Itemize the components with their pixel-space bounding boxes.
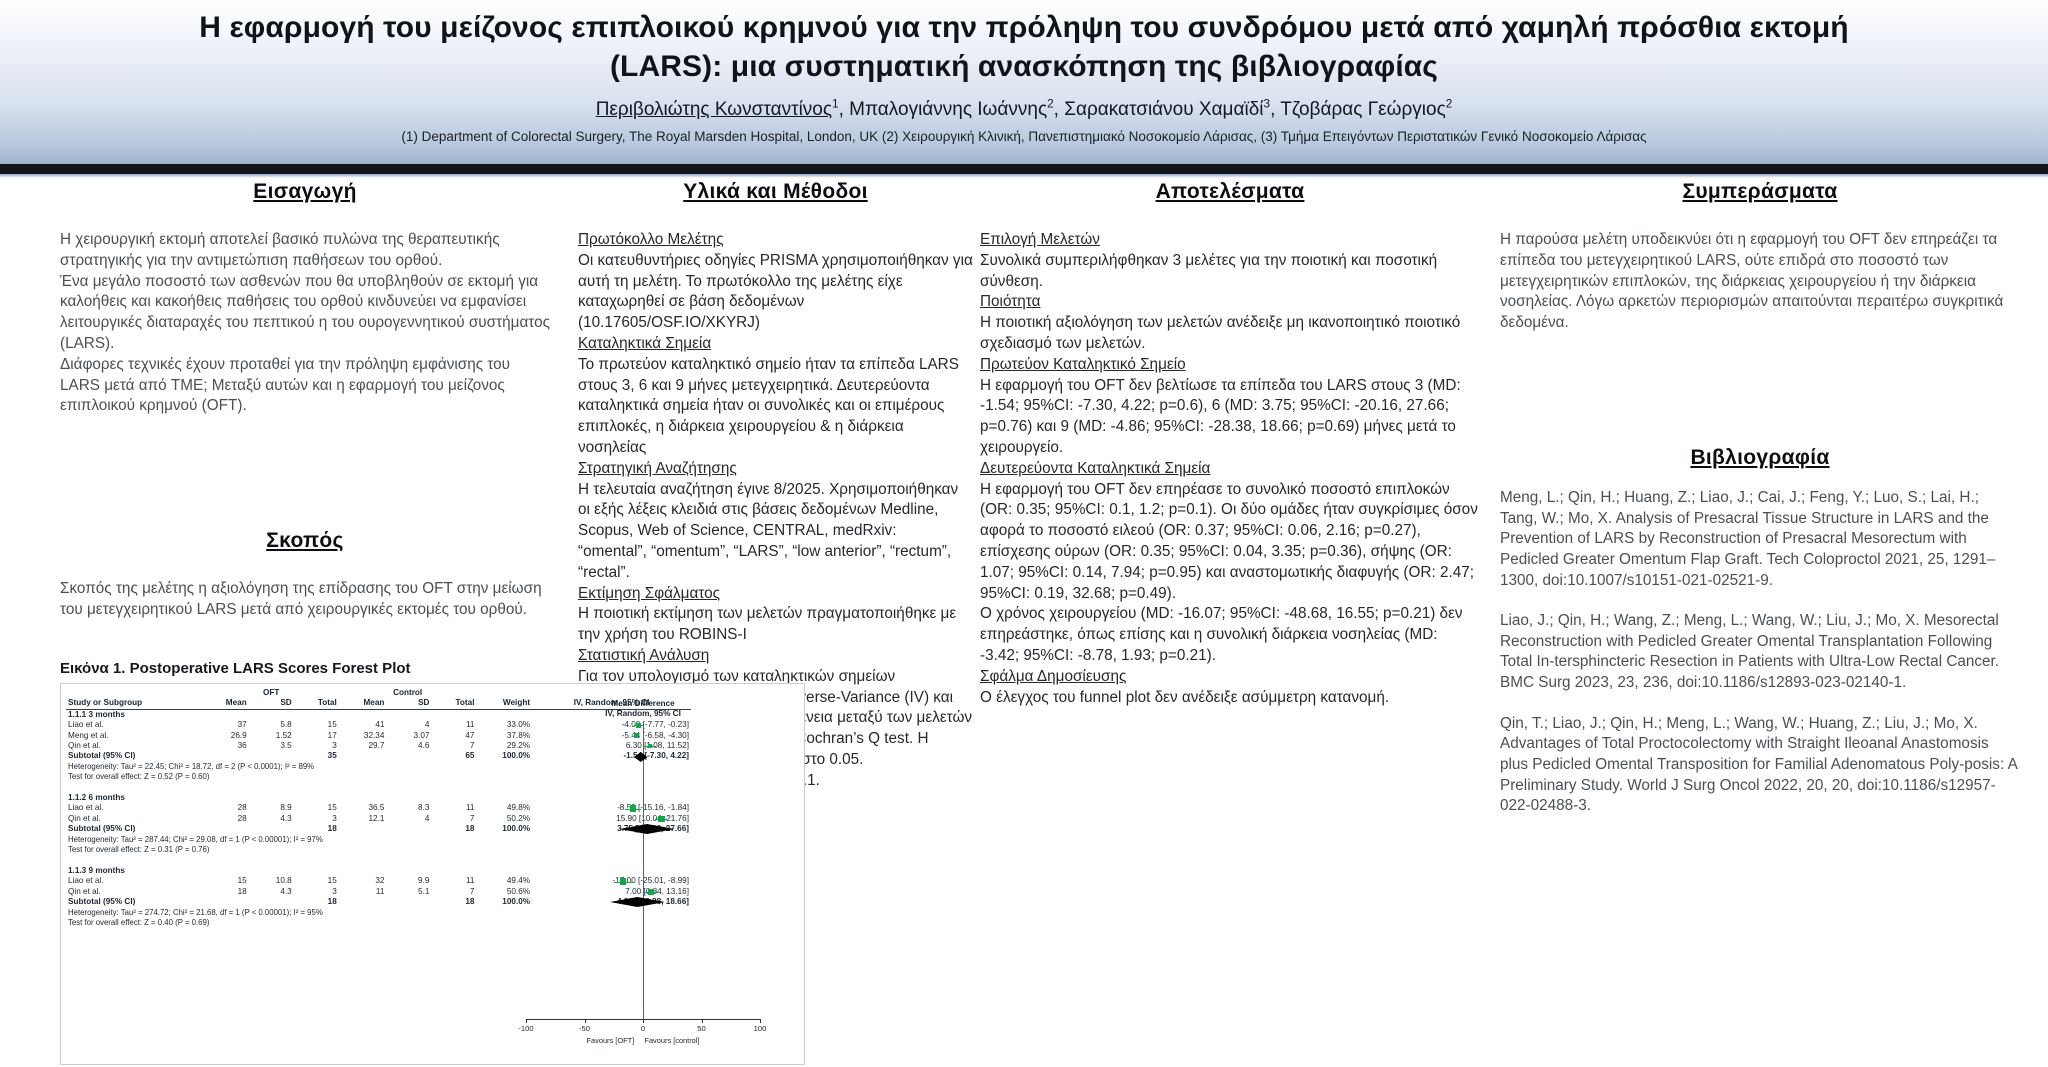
column-header: SD [386,698,431,709]
column-header: Mean [204,698,249,709]
spacer-cell [532,688,691,698]
forest-plot-favours-labels: Favours [OFT] Favours [control] [498,1036,788,1045]
cell-blank [204,824,249,834]
column-header: Total [294,698,339,709]
cell-mean-control: 11 [339,887,387,897]
favours-left-label: Favours [OFT] [587,1036,635,1045]
aim-text: Σκοπός της μελέτης η αξιολόγηση της επίδ… [60,579,550,621]
forest-plot-effect-marker [630,805,637,812]
results-subheading-secondary-endpoints: Δευτερεύοντα Καταληκτικά Σημεία [980,459,1480,480]
forest-plot-effect-marker [658,816,665,823]
cell-study: Liao et al. [66,803,204,813]
forest-plot-header: Mean Difference IV, Random, 95% CI [498,699,788,720]
forest-plot-image: OFTControlStudy or SubgroupMeanSDTotalMe… [60,683,805,1065]
author-1: Περιβολιώτης Κωνσταντίνος [596,99,832,120]
x-axis-tick [643,1019,644,1023]
figure-container: Εικόνα 1. Postoperative LARS Scores Fore… [60,660,820,1065]
cell-study: Liao et al. [66,720,204,730]
cell-total-control: 11 [431,720,476,730]
section-heading-conclusions: Συμπεράσματα [1500,180,2020,204]
table-group-header-row: OFTControl [66,688,691,698]
cell-blank [386,824,431,834]
column-results: Αποτελέσματα Επιλογή Μελετών Συνολικά συ… [980,180,1480,708]
results-subheading-quality: Ποιότητα [980,292,1480,313]
section-heading-methods: Υλικά και Μέθοδοι [578,180,973,204]
cell-mean-control: 29.7 [339,741,387,751]
spacer-cell [66,688,204,698]
cell-subtotal-total-control: 18 [431,824,476,834]
methods-search-strategy-text: Η τελευταία αναζήτηση έγινε 8/2025. Χρησ… [578,480,973,584]
cell-sd-control: 5.1 [386,887,431,897]
forest-plot-effect-marker [634,733,639,738]
cell-sd-control: 4.6 [386,741,431,751]
author-2: , Μπαλογιάννης Ιωάννης [839,99,1048,120]
cell-subtotal-label: Subtotal (95% CI) [66,824,204,834]
reference-item: Meng, L.; Qin, H.; Huang, Z.; Liao, J.; … [1500,488,2020,591]
author-4-affil-marker: 2 [1446,98,1453,111]
x-axis-tick-label: -50 [570,1024,600,1033]
cell-blank [386,897,431,907]
results-secondary-endpoints-text: Η εφαρμογή του OFT δεν επηρέασε το συνολ… [980,480,1480,667]
affiliations: (1) Department of Colorectal Surgery, Th… [0,129,2048,145]
cell-subtotal-total-oft: 18 [294,824,339,834]
header-divider [0,164,2048,174]
cell-subtotal-total-control: 65 [431,751,476,761]
cell-sd-control: 9.9 [386,876,431,886]
cell-total-control: 11 [431,803,476,813]
forest-plot-effect-marker [620,878,627,885]
x-axis-tick [526,1019,527,1023]
x-axis-tick-label: 0 [628,1024,658,1033]
column-header: Mean [339,698,387,709]
forest-plot-header-line1: Mean Difference [498,699,788,709]
cell-blank [249,751,294,761]
cell-study: Qin et al. [66,741,204,751]
cell-mean-control: 36.5 [339,803,387,813]
title-line-2: (LARS): μια συστηματική ανασκόπηση της β… [0,47,2048,86]
cell-total-oft: 3 [294,814,339,824]
favours-right-label: Favours [control] [644,1036,699,1045]
cell-blank [249,897,294,907]
cell-blank [339,897,387,907]
group-header-oft: OFT [204,688,339,698]
methods-subheading-bias-assessment: Εκτίμηση Σφάλματος [578,584,973,605]
methods-subheading-endpoints: Καταληκτικά Σημεία [578,334,973,355]
spacer [1500,334,2020,446]
forest-plot-summary-diamond [634,752,647,762]
forest-plot-zero-line [643,721,644,1019]
cell-mean-control: 32.34 [339,731,387,741]
cell-mean-control: 41 [339,720,387,730]
forest-plot-effect-marker [648,744,652,748]
author-3: , Σαρακατσιάνου Χαμαϊδί [1054,99,1264,120]
results-publication-bias-text: Ο έλεγχος του funnel plot δεν ανέδειξε α… [980,688,1480,709]
cell-mean-oft: 36 [204,741,249,751]
cell-total-control: 47 [431,731,476,741]
methods-protocol-text: Οι κατευθυντήριες οδηγίες PRISMA χρησιμο… [578,251,973,334]
cell-sd-control: 4 [386,814,431,824]
methods-subheading-protocol: Πρωτόκολλο Μελέτης [578,230,973,251]
column-header: Total [431,698,476,709]
x-axis-tick [760,1019,761,1023]
cell-blank [204,897,249,907]
forest-plot-summary-diamond [610,897,665,907]
header-divider-fade [0,174,2048,178]
cell-mean-oft: 28 [204,803,249,813]
cell-total-control: 7 [431,887,476,897]
methods-bias-assessment-text: Η ποιοτική εκτίμηση των μελετών πραγματο… [578,604,973,646]
cell-blank [249,824,294,834]
cell-mean-oft: 26.9 [204,731,249,741]
cell-blank [386,751,431,761]
cell-mean-oft: 15 [204,876,249,886]
methods-endpoints-text: Το πρωτεύον καταληκτικό σημείο ήταν τα ε… [578,355,973,459]
author-4: , Τζοβάρας Γεώργιος [1270,99,1446,120]
x-axis-tick [702,1019,703,1023]
group-header-control: Control [339,688,477,698]
cell-sd-oft: 10.8 [249,876,294,886]
cell-sd-oft: 8.9 [249,803,294,813]
x-axis-tick-label: 100 [745,1024,775,1033]
column-introduction: Εισαγωγή Η χειρουργική εκτομή αποτελεί β… [60,180,550,621]
cell-blank [339,824,387,834]
cell-mean-control: 12.1 [339,814,387,824]
cell-sd-oft: 1.52 [249,731,294,741]
cell-sd-oft: 4.3 [249,814,294,824]
reference-list: Meng, L.; Qin, H.; Huang, Z.; Liao, J.; … [1500,488,2020,817]
cell-study: Qin et al. [66,887,204,897]
page-title: Η εφαρμογή του μείζονος επιπλοικού κρημν… [0,0,2048,86]
cell-sd-oft: 5.8 [249,720,294,730]
cell-subtotal-total-oft: 35 [294,751,339,761]
methods-subheading-search-strategy: Στρατηγική Αναζήτησης [578,459,973,480]
cell-subtotal-total-oft: 18 [294,897,339,907]
figure-caption: Εικόνα 1. Postoperative LARS Scores Fore… [60,660,820,677]
section-heading-aim: Σκοπός [60,529,550,553]
poster-header: Η εφαρμογή του μείζονος επιπλοικού κρημν… [0,0,2048,164]
cell-total-control: 11 [431,876,476,886]
section-heading-results: Αποτελέσματα [980,180,1480,204]
forest-plot-axes: Mean Difference IV, Random, 95% CI -100-… [498,699,788,1047]
results-subheading-primary-endpoint: Πρωτεύον Καταληκτικό Σημείο [980,355,1480,376]
cell-total-control: 7 [431,814,476,824]
results-primary-endpoint-text: Η εφαρμογή του OFT δεν βελτίωσε τα επίπε… [980,376,1480,459]
cell-total-oft: 3 [294,741,339,751]
results-quality-text: Η ποιοτική αξιολόγηση των μελετών ανέδει… [980,313,1480,355]
x-axis-tick [585,1019,586,1023]
cell-blank [204,751,249,761]
conclusions-text: Η παρούσα μελέτη υποδεικνύει ότι η εφαρμ… [1500,230,2020,334]
forest-plot-effect-marker [648,889,655,896]
cell-total-oft: 15 [294,803,339,813]
cell-sd-control: 3.07 [386,731,431,741]
spacer-cell [476,688,532,698]
cell-sd-oft: 3.5 [249,741,294,751]
column-header: Study or Subgroup [66,698,204,709]
cell-subtotal-label: Subtotal (95% CI) [66,751,204,761]
title-line-1: Η εφαρμογή του μείζονος επιπλοικού κρημν… [0,8,2048,47]
cell-subtotal-total-control: 18 [431,897,476,907]
cell-study: Liao et al. [66,876,204,886]
cell-mean-oft: 18 [204,887,249,897]
author-list: Περιβολιώτης Κωνσταντίνος1, Μπαλογιάννης… [0,98,2048,122]
forest-plot-summary-diamond [619,824,675,834]
cell-total-oft: 3 [294,887,339,897]
cell-mean-control: 32 [339,876,387,886]
cell-study: Qin et al. [66,814,204,824]
cell-sd-control: 4 [386,720,431,730]
results-subheading-study-selection: Επιλογή Μελετών [980,230,1480,251]
cell-sd-oft: 4.3 [249,887,294,897]
cell-mean-oft: 37 [204,720,249,730]
column-header: SD [249,698,294,709]
cell-mean-oft: 28 [204,814,249,824]
column-conclusions-references: Συμπεράσματα Η παρούσα μελέτη υποδεικνύε… [1500,180,2020,837]
results-subheading-publication-bias: Σφάλμα Δημοσίευσης [980,667,1480,688]
cell-total-control: 7 [431,741,476,751]
reference-item: Qin, T.; Liao, J.; Qin, H.; Meng, L.; Wa… [1500,714,2020,817]
forest-plot-header-line2: IV, Random, 95% CI [498,709,788,719]
x-axis-tick-label: 50 [687,1024,717,1033]
cell-total-oft: 17 [294,731,339,741]
cell-total-oft: 15 [294,876,339,886]
cell-study: Meng et al. [66,731,204,741]
section-heading-introduction: Εισαγωγή [60,180,550,204]
x-axis-tick-label: -100 [511,1024,541,1033]
cell-blank [339,751,387,761]
reference-item: Liao, J.; Qin, H.; Wang, Z.; Meng, L.; W… [1500,611,2020,694]
results-study-selection-text: Συνολικά συμπεριλήφθηκαν 3 μελέτες για τ… [980,251,1480,293]
cell-total-oft: 15 [294,720,339,730]
introduction-text: Η χειρουργική εκτομή αποτελεί βασικό πυλ… [60,230,550,417]
spacer [60,417,550,529]
section-heading-references: Βιβλιογραφία [1500,446,2020,470]
cell-subtotal-label: Subtotal (95% CI) [66,897,204,907]
forest-plot-effect-marker [636,723,640,727]
cell-sd-control: 8.3 [386,803,431,813]
